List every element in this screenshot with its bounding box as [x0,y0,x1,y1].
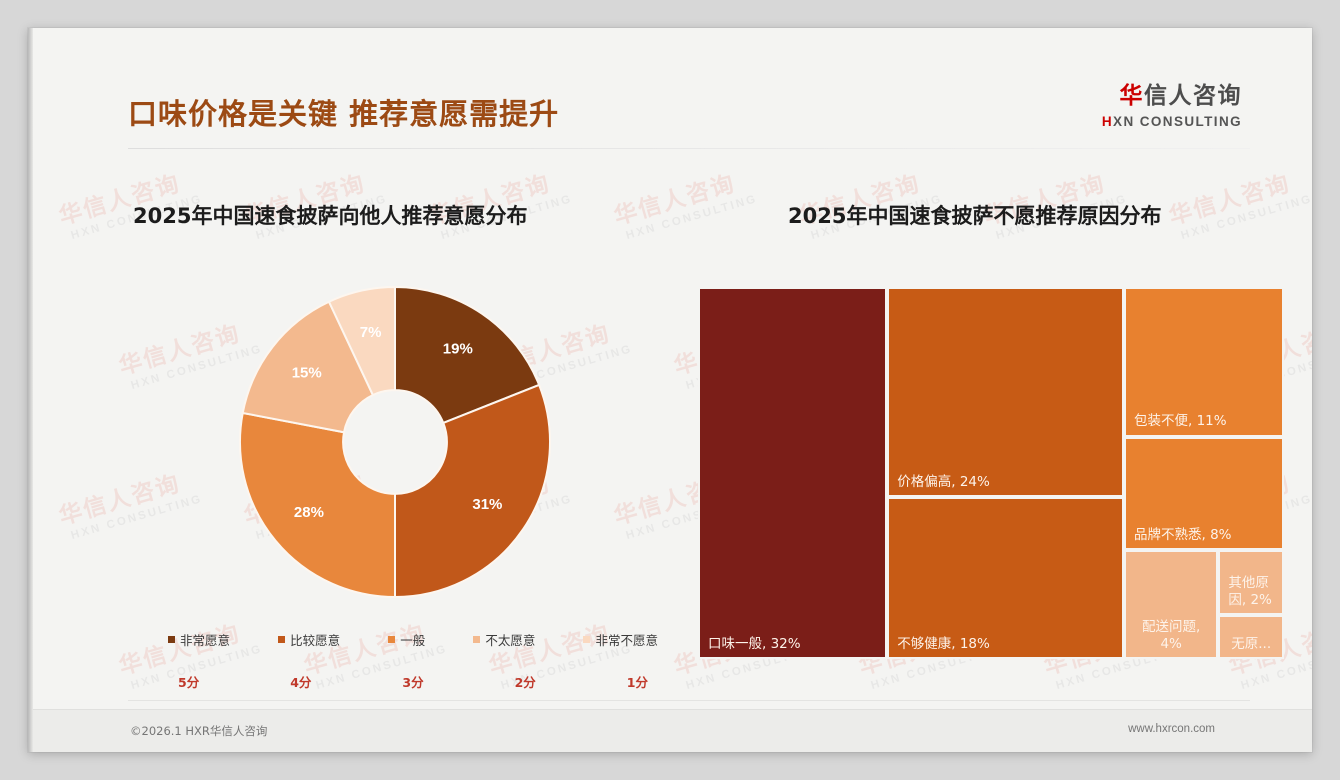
donut-slice[interactable] [395,385,550,597]
recommendation-donut-chart: 19%31%28%15%7% [236,283,554,601]
slide-card: 华信人咨询HXN CONSULTING华信人咨询HXN CONSULTING华信… [28,28,1312,752]
treemap-cell[interactable]: 不够健康, 18% [887,497,1124,659]
donut-slice-label: 15% [292,365,322,382]
charts-area: 2025年中国速食披萨向他人推荐意愿分布 2025年中国速食披萨不愿推荐原因分布… [28,28,1312,752]
treemap-cell[interactable]: 品牌不熟悉, 8% [1124,437,1284,550]
legend-swatch-icon [388,636,395,643]
right-chart-title: 2025年中国速食披萨不愿推荐原因分布 [788,200,1161,230]
score-label: 4分 [290,672,311,691]
logo-english-text: HXN CONSULTING [1102,115,1242,129]
logo-en-accent: H [1102,114,1113,129]
footer-website[interactable]: www.hxrcon.com [1128,723,1215,735]
donut-svg: 19%31%28%15%7% [236,283,554,601]
legend-label: 一般 [400,630,425,649]
legend-label: 非常愿意 [180,630,230,649]
legend-swatch-icon [473,636,480,643]
legend-label: 不太愿意 [485,630,535,649]
footer-copyright: ©2026.1 HXR华信人咨询 [130,723,267,739]
score-label: 5分 [178,672,199,691]
treemap-cell-label: 品牌不熟悉, 8% [1134,527,1278,543]
legend-label: 比较愿意 [290,630,340,649]
footnote-divider [128,700,1250,701]
donut-legend: 非常愿意比较愿意一般不太愿意非常不愿意 [168,630,658,649]
logo-rest-chars: 信人咨询 [1144,83,1242,109]
slide-footer: ©2026.1 HXR华信人咨询 www.hxrcon.com [33,709,1312,752]
score-label: 1分 [627,672,648,691]
donut-slice-label: 7% [360,324,382,341]
donut-slice-label: 19% [443,341,473,358]
legend-swatch-icon [278,636,285,643]
treemap-cell[interactable]: 无原... [1218,615,1284,659]
legend-item[interactable]: 不太愿意 [473,630,535,649]
treemap-cell-label: 口味一般, 32% [708,636,881,652]
brand-logo: 华信人咨询 HXN CONSULTING [1102,85,1242,129]
treemap-cell[interactable]: 价格偏高, 24% [887,287,1124,497]
title-divider [128,148,1250,149]
legend-swatch-icon [168,636,175,643]
legend-item[interactable]: 一般 [388,630,425,649]
slide-stage: 华信人咨询HXN CONSULTING华信人咨询HXN CONSULTING华信… [0,0,1340,780]
donut-slice-label: 28% [294,504,324,521]
treemap-cell[interactable]: 包装不便, 11% [1124,287,1284,437]
treemap-cell-label: 价格偏高, 24% [897,474,1118,490]
logo-chinese-text: 华信人咨询 [1102,85,1242,108]
slide-header: 口味价格是关键 推荐意愿需提升 华信人咨询 HXN CONSULTING [28,28,1312,126]
score-label: 3分 [402,672,423,691]
treemap-cell-label: 不够健康, 18% [897,636,1118,652]
left-chart-title: 2025年中国速食披萨向他人推荐意愿分布 [133,200,527,230]
legend-label: 非常不愿意 [595,630,658,649]
score-label: 2分 [515,672,536,691]
treemap-cell[interactable]: 配送问题, 4% [1124,550,1218,659]
treemap-cell-label: 包装不便, 11% [1134,413,1278,429]
treemap-cell[interactable]: 其他原因, 2% [1218,550,1284,615]
reasons-treemap-chart: 口味一般, 32%价格偏高, 24%不够健康, 18%包装不便, 11%品牌不熟… [698,287,1284,659]
legend-swatch-icon [583,636,590,643]
legend-item[interactable]: 非常愿意 [168,630,230,649]
legend-item[interactable]: 非常不愿意 [583,630,658,649]
donut-score-row: 5分4分3分2分1分 [178,672,648,691]
logo-accent-char: 华 [1120,83,1145,109]
legend-item[interactable]: 比较愿意 [278,630,340,649]
donut-slice-label: 31% [472,496,502,513]
treemap-cell-label: 其他原因, 2% [1228,575,1278,608]
treemap-cell[interactable]: 口味一般, 32% [698,287,887,659]
treemap-cell-label: 无原... [1224,636,1278,652]
logo-en-rest: XN CONSULTING [1113,114,1242,129]
treemap-cell-label: 配送问题, 4% [1130,619,1212,652]
page-title: 口味价格是关键 推荐意愿需提升 [128,91,559,133]
